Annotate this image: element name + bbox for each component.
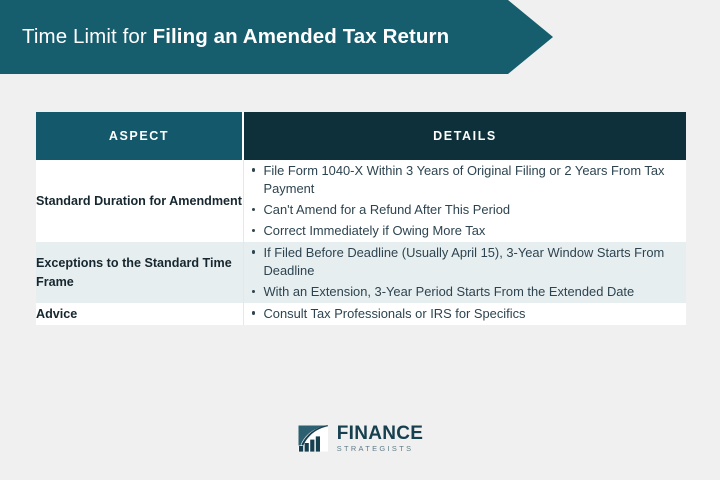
list-item: If Filed Before Deadline (Usually April …: [264, 242, 687, 282]
details-cell: If Filed Before Deadline (Usually April …: [243, 242, 686, 303]
list-item: Can't Amend for a Refund After This Peri…: [264, 200, 687, 221]
comparison-table: ASPECT DETAILS Standard Duration for Ame…: [36, 112, 686, 325]
page-title-regular: Time Limit for: [22, 25, 153, 48]
table-row: Standard Duration for Amendment File For…: [36, 160, 686, 242]
header-banner: Time Limit for Filing an Amended Tax Ret…: [0, 0, 553, 74]
page-title: Time Limit for Filing an Amended Tax Ret…: [0, 27, 449, 48]
details-bullet-list: If Filed Before Deadline (Usually April …: [244, 242, 687, 303]
aspect-cell: Advice: [36, 303, 243, 324]
brand-logo: FINANCE STRATEGISTS: [0, 418, 720, 458]
logo-tagline: STRATEGISTS: [337, 445, 424, 452]
aspect-cell: Standard Duration for Amendment: [36, 160, 243, 242]
header-banner-shape: Time Limit for Filing an Amended Tax Ret…: [0, 0, 553, 74]
table-header: ASPECT DETAILS: [36, 112, 686, 160]
aspect-label: Standard Duration for Amendment: [36, 192, 243, 210]
table-row: Exceptions to the Standard Time Frame If…: [36, 242, 686, 303]
aspect-label: Advice: [36, 305, 243, 323]
table-header-row: ASPECT DETAILS: [36, 112, 686, 160]
details-cell: File Form 1040-X Within 3 Years of Origi…: [243, 160, 686, 242]
column-header-aspect: ASPECT: [36, 112, 243, 160]
aspect-label: Exceptions to the Standard Time Frame: [36, 254, 243, 291]
list-item: With an Extension, 3-Year Period Starts …: [264, 282, 687, 303]
aspect-cell: Exceptions to the Standard Time Frame: [36, 242, 243, 303]
column-header-details: DETAILS: [243, 112, 686, 160]
details-bullet-list: Consult Tax Professionals or IRS for Spe…: [244, 303, 687, 324]
logo-name: FINANCE: [337, 424, 424, 443]
bar-chart-growth-icon: [297, 424, 330, 453]
list-item: Correct Immediately if Owing More Tax: [264, 221, 687, 242]
table-row: Advice Consult Tax Professionals or IRS …: [36, 303, 686, 324]
list-item: File Form 1040-X Within 3 Years of Origi…: [264, 160, 687, 200]
table-body: Standard Duration for Amendment File For…: [36, 160, 686, 325]
logo-text: FINANCE STRATEGISTS: [337, 424, 424, 452]
details-bullet-list: File Form 1040-X Within 3 Years of Origi…: [244, 160, 687, 242]
details-cell: Consult Tax Professionals or IRS for Spe…: [243, 303, 686, 324]
list-item: Consult Tax Professionals or IRS for Spe…: [264, 303, 687, 324]
page-title-bold: Filing an Amended Tax Return: [153, 25, 450, 48]
